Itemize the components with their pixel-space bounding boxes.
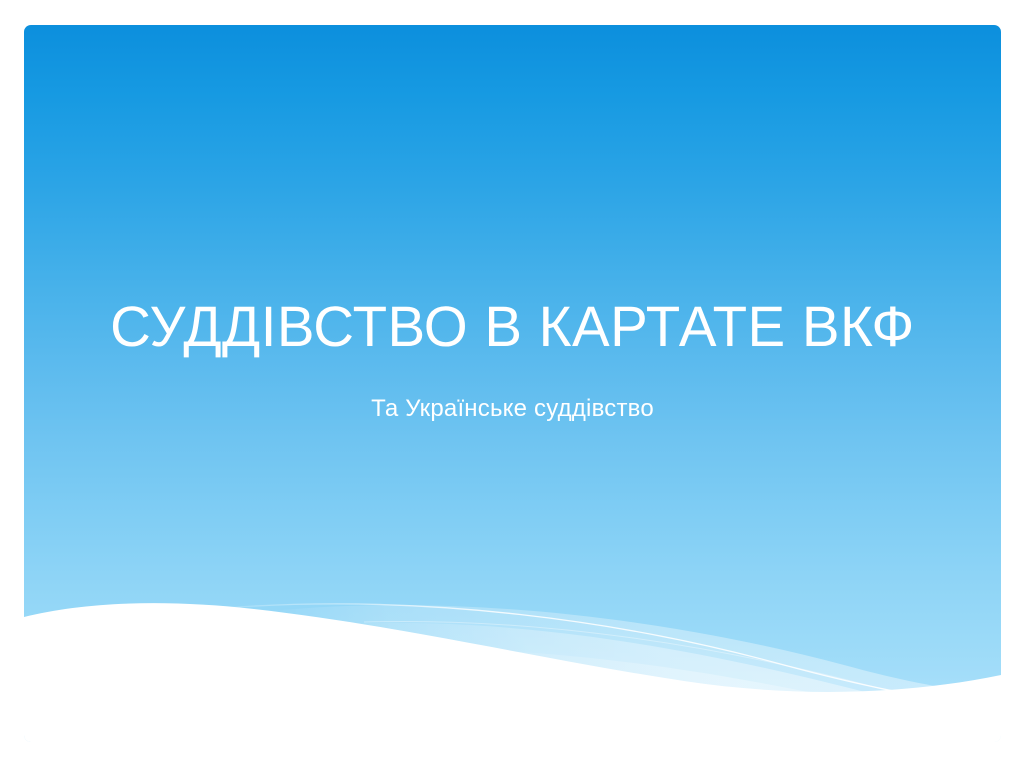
slide-canvas: СУДДІВСТВО В КАРТАТЕ ВКФ Та Українське с… [24,25,1001,742]
slide-root: СУДДІВСТВО В КАРТАТЕ ВКФ Та Українське с… [0,0,1024,767]
wisp-wave-decoration [24,25,1001,742]
